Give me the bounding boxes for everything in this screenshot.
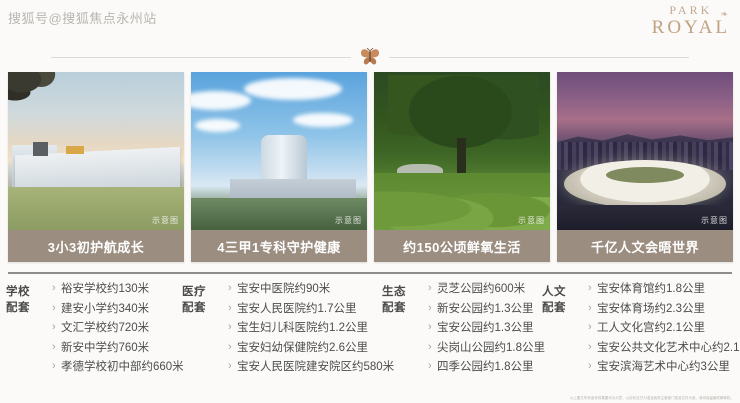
amenities-column-school: 学校 配套 裕安学校约130米 建安小学约340米 文汇学校约720米 新安中学… — [6, 284, 182, 374]
school-campus-sunset-image — [8, 72, 184, 230]
rule-right — [389, 57, 689, 58]
list-item: 宝安中医院约90米 — [228, 284, 394, 304]
green-park-garden-image — [374, 72, 550, 230]
amenities-table: 学校 配套 裕安学校约130米 建安小学约340米 文汇学校约720米 新安中学… — [6, 284, 736, 374]
list-item: 宝安妇幼保健院约2.6公里 — [228, 343, 394, 363]
feature-card[interactable]: 示意图 千亿人文会晤世界 — [557, 72, 733, 262]
brand-logo: ❧ PARK ROYAL — [649, 4, 730, 37]
list-item: 工人文化宫约2.1公里 — [588, 323, 740, 343]
amenities-list: 裕安学校约130米 建安小学约340米 文汇学校约720米 新安中学约760米 … — [52, 284, 184, 374]
column-label: 医疗 配套 — [182, 284, 216, 316]
column-label: 人文 配套 — [542, 284, 576, 316]
butterfly-icon — [359, 47, 381, 67]
list-item: 新安公园约1.3公里 — [428, 304, 545, 324]
list-item: 宝安体育馆约1.8公里 — [588, 284, 740, 304]
list-item: 尖岗山公园约1.8公里 — [428, 343, 545, 363]
ornament-rule — [0, 47, 740, 67]
list-item: 宝安公园约1.3公里 — [428, 323, 545, 343]
image-disclaimer-tag: 示意图 — [152, 215, 179, 226]
list-item: 灵芝公园约600米 — [428, 284, 545, 304]
feature-card-caption: 约150公顷鲜氧生活 — [374, 230, 550, 262]
feature-card-caption: 千亿人文会晤世界 — [557, 230, 733, 262]
logo-ornament-icon: ❧ — [720, 10, 728, 19]
list-item: 裕安学校约130米 — [52, 284, 184, 304]
list-item: 宝安人民医院约1.7公里 — [228, 304, 394, 324]
list-item: 新安中学约760米 — [52, 343, 184, 363]
list-item: 宝安体育场约2.3公里 — [588, 304, 740, 324]
list-item: 文汇学校约720米 — [52, 323, 184, 343]
logo-line-1: PARK — [649, 4, 730, 16]
watermark-text: 搜狐号@搜狐焦点永州站 — [8, 8, 157, 27]
legal-footnote: 以上图文所有宣传效果图均为示意，以实际交付为准及政府主管部门批准文件为准，我司保… — [570, 395, 734, 400]
amenities-column-culture: 人文 配套 宝安体育馆约1.8公里 宝安体育场约2.3公里 工人文化宫约2.1公… — [542, 284, 736, 374]
amenities-list: 灵芝公园约600米 新安公园约1.3公里 宝安公园约1.3公里 尖岗山公园约1.… — [428, 284, 545, 374]
list-item: 四季公园约1.8公里 — [428, 362, 545, 374]
feature-card[interactable]: 示意图 4三甲1专科守护健康 — [191, 72, 367, 262]
feature-card[interactable]: 示意图 约150公顷鲜氧生活 — [374, 72, 550, 262]
feature-card[interactable]: 示意图 3小3初护航成长 — [8, 72, 184, 262]
hospital-blue-sky-image — [191, 72, 367, 230]
feature-card-caption: 3小3初护航成长 — [8, 230, 184, 262]
image-disclaimer-tag: 示意图 — [518, 215, 545, 226]
amenities-column-medical: 医疗 配套 宝安中医院约90米 宝安人民医院约1.7公里 宝生妇儿科医院约1.2… — [182, 284, 382, 374]
image-disclaimer-tag: 示意图 — [701, 215, 728, 226]
list-item: 宝生妇儿科医院约1.2公里 — [228, 323, 394, 343]
amenities-column-ecology: 生态 配套 灵芝公园约600米 新安公园约1.3公里 宝安公园约1.3公里 尖岗… — [382, 284, 542, 374]
poster-page: 搜狐号@搜狐焦点永州站 ❧ PARK ROYAL 示意图 3小3初护航成长 — [0, 0, 740, 403]
list-item: 建安小学约340米 — [52, 304, 184, 324]
list-item: 宝安人民医院建安院区约580米 — [228, 362, 394, 374]
stadium-dusk-image — [557, 72, 733, 230]
logo-line-2: ROYAL — [649, 18, 730, 37]
rule-left — [51, 57, 351, 58]
amenities-list: 宝安中医院约90米 宝安人民医院约1.7公里 宝生妇儿科医院约1.2公里 宝安妇… — [228, 284, 394, 374]
list-item: 宝安公共文化艺术中心约2.1公里 — [588, 343, 740, 363]
feature-card-list: 示意图 3小3初护航成长 示意图 4三甲1专科守护健康 示意图 约150公顷鲜氧… — [8, 72, 734, 262]
section-divider — [8, 272, 732, 274]
list-item: 宝安滨海艺术中心约3公里 — [588, 362, 740, 374]
column-label: 学校 配套 — [6, 284, 40, 316]
feature-card-caption: 4三甲1专科守护健康 — [191, 230, 367, 262]
amenities-list: 宝安体育馆约1.8公里 宝安体育场约2.3公里 工人文化宫约2.1公里 宝安公共… — [588, 284, 740, 374]
image-disclaimer-tag: 示意图 — [335, 215, 362, 226]
list-item: 孝德学校初中部约660米 — [52, 362, 184, 374]
